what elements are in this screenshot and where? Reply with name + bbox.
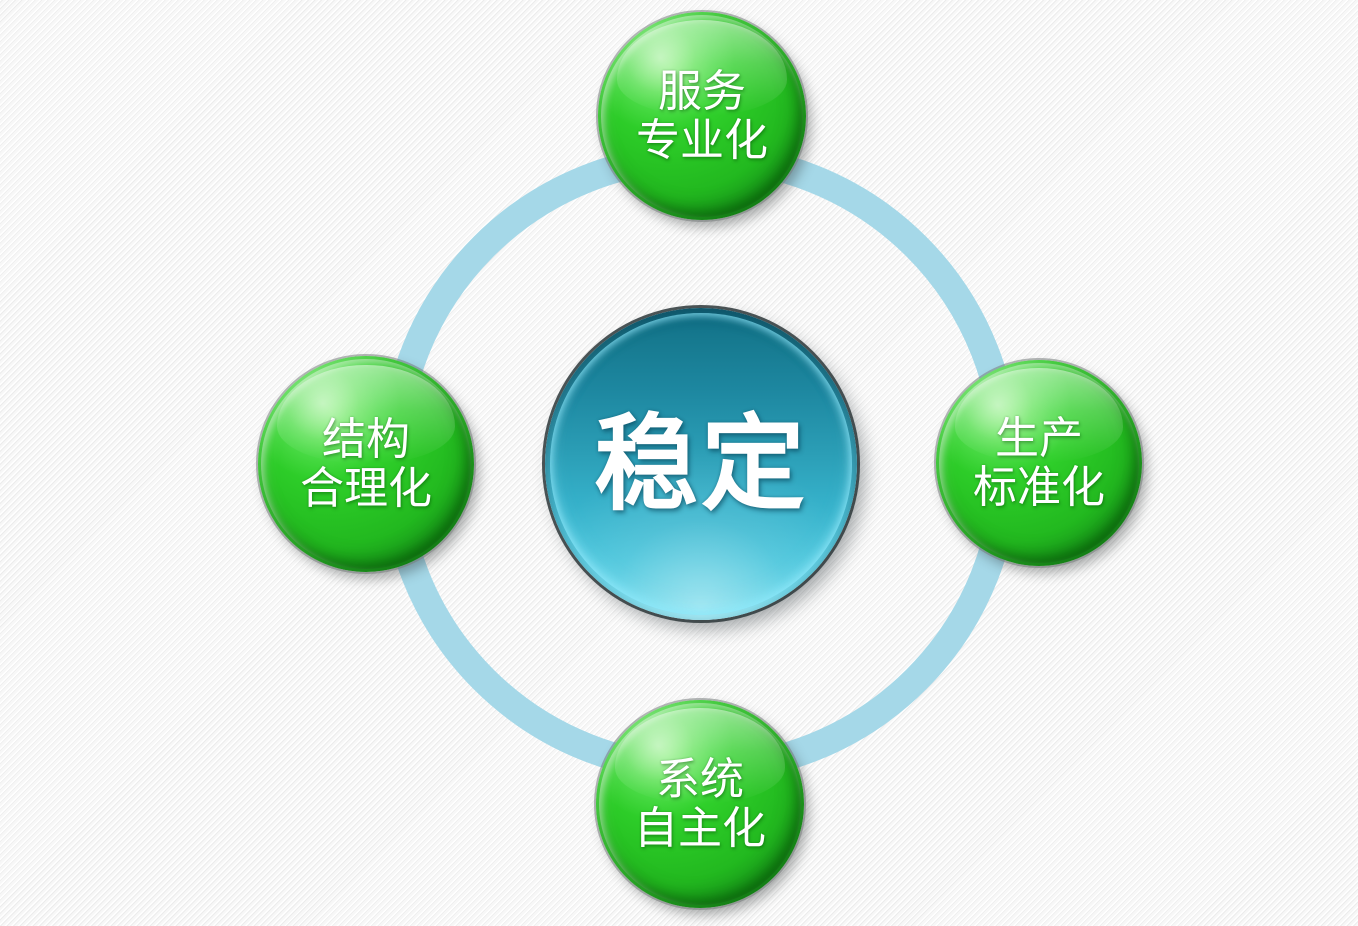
node-system-label: 系统 自主化 <box>634 755 766 854</box>
node-service[interactable]: 服务 专业化 <box>598 12 806 220</box>
diagram-canvas: 服务 专业化 生产 标准化 系统 自主化 结构 合理化 稳定 <box>0 0 1358 926</box>
node-production-label: 生产 标准化 <box>973 414 1105 513</box>
node-system[interactable]: 系统 自主化 <box>596 700 804 908</box>
center-node[interactable]: 稳定 <box>545 308 857 620</box>
node-structure[interactable]: 结构 合理化 <box>258 356 474 572</box>
node-structure-label: 结构 合理化 <box>300 415 432 514</box>
node-production[interactable]: 生产 标准化 <box>936 360 1142 566</box>
node-service-label: 服务 专业化 <box>636 67 768 166</box>
center-node-label: 稳定 <box>594 406 808 522</box>
